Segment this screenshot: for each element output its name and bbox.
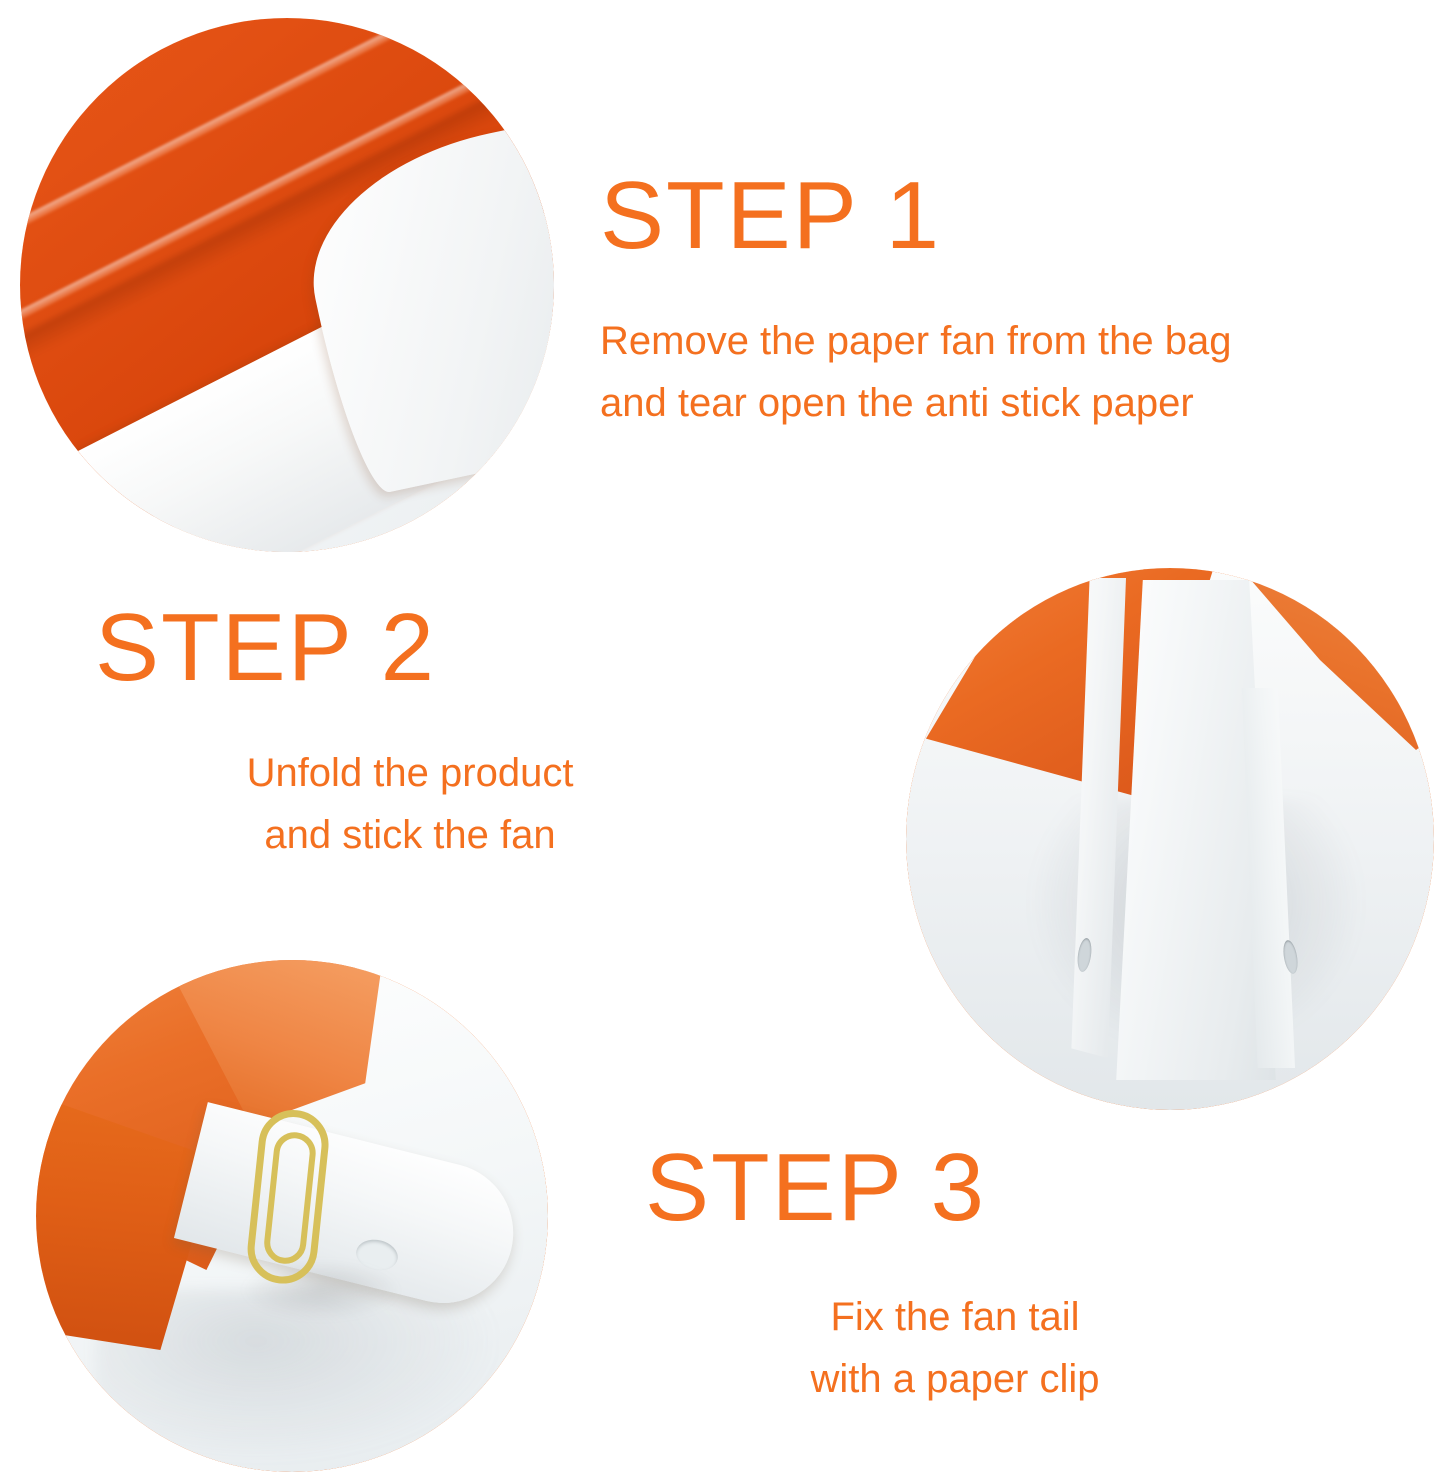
step-1-text-block: STEP 1 Remove the paper fan from the bag… <box>600 168 1231 434</box>
step-1-description-line-2: and tear open the anti stick paper <box>600 372 1231 434</box>
step-1-photo <box>20 18 554 552</box>
step-3-photo-circle <box>36 960 548 1472</box>
step-1-photo-circle <box>20 18 554 552</box>
infographic-canvas: STEP 1 Remove the paper fan from the bag… <box>0 0 1445 1484</box>
step-2-description-line-2: and stick the fan <box>95 804 725 866</box>
step-1-title: STEP 1 <box>600 168 1231 264</box>
step-1-description: Remove the paper fan from the bag and te… <box>600 310 1231 434</box>
step-2-photo-circle <box>906 568 1434 1110</box>
step-3-description-line-2: with a paper clip <box>645 1348 1265 1410</box>
step-3-description: Fix the fan tail with a paper clip <box>645 1286 1265 1410</box>
step-2-photo <box>906 568 1434 1110</box>
step-2-description: Unfold the product and stick the fan <box>95 742 725 866</box>
step-1-description-line-1: Remove the paper fan from the bag <box>600 310 1231 372</box>
step-3-description-line-1: Fix the fan tail <box>645 1286 1265 1348</box>
step-2-description-line-1: Unfold the product <box>95 742 725 804</box>
step-2-title: STEP 2 <box>95 600 725 696</box>
step-3-photo <box>36 960 548 1472</box>
step-3-text-block: STEP 3 Fix the fan tail with a paper cli… <box>645 1140 1265 1410</box>
step-3-title: STEP 3 <box>645 1140 1265 1236</box>
step-2-text-block: STEP 2 Unfold the product and stick the … <box>95 600 725 866</box>
